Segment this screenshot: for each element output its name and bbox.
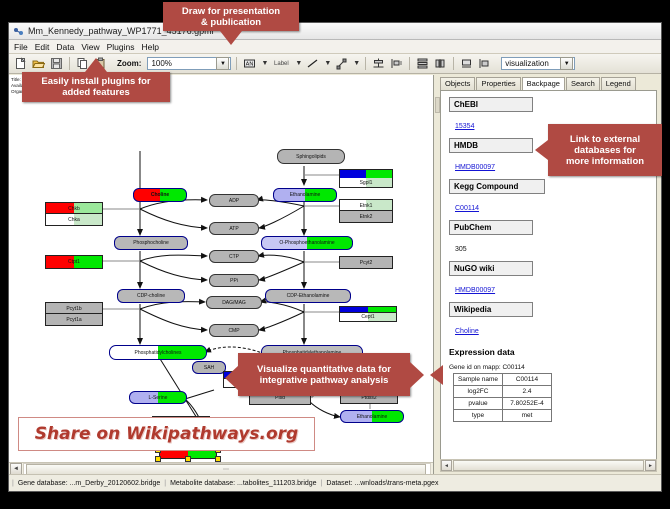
anchor-dropdown-icon[interactable]: ▼ [353, 60, 360, 67]
db-header-chebi: ChEBI [449, 97, 533, 112]
gene-id-on-mapp-label: Gene id on mapp: C00114 [449, 364, 650, 371]
callout-draw-text: Draw for presentation & publication [182, 6, 280, 28]
save-icon[interactable] [49, 56, 64, 71]
node-atp[interactable]: ATP [209, 222, 259, 235]
line-icon[interactable] [305, 56, 320, 71]
align-icon[interactable] [371, 56, 386, 71]
node-phosphocholine[interactable]: Phosphocholine [114, 236, 188, 250]
node-ethanolamine-right[interactable]: Ethanolamine [340, 410, 404, 423]
zoom-label: Zoom: [117, 59, 141, 68]
status-divider-2: | [321, 480, 323, 487]
callout-visualize-text: Visualize quantitative data for integrat… [257, 364, 391, 386]
distribute-icon[interactable] [389, 56, 404, 71]
db-header-kegg-compound: Kegg Compound [449, 179, 545, 194]
expression-table: Sample name C00114 log2FC 2.4 pvalue 7.8… [453, 373, 552, 422]
callout-links-text: Link to external databases for more info… [566, 134, 644, 167]
zoom-value: 100% [151, 59, 171, 68]
node-phosphatidylcholines[interactable]: Phosphatidylcholines [109, 345, 207, 360]
panel-splitter[interactable] [434, 91, 439, 460]
db-link-nugo-wiki[interactable]: HMDB00097 [455, 287, 495, 294]
callout-visualize-arrow-right-icon [410, 362, 424, 388]
visualization-chevron-down-icon[interactable]: ▼ [560, 57, 573, 70]
toolbar-separator-5 [453, 57, 454, 70]
visualization-combo[interactable]: visualization ▼ [501, 57, 575, 70]
gene-sgpl1[interactable]: Sgpl1 [339, 178, 393, 188]
gene-pcyt1a[interactable]: Pcyt1a [45, 313, 103, 326]
status-divider-0: | [12, 480, 14, 487]
menu-item-help[interactable]: Help [142, 42, 159, 52]
toolbar-separator-3 [365, 57, 366, 70]
datanode-icon[interactable]: AN [242, 56, 257, 71]
expr-val-log2fc: 2.4 [503, 386, 552, 398]
menu-item-file[interactable]: File [14, 42, 28, 52]
svg-text:AN: AN [246, 62, 254, 68]
line-dropdown-icon[interactable]: ▼ [324, 60, 331, 67]
scroll-track[interactable]: ⋯ [23, 463, 431, 475]
toolbar-separator-4 [409, 57, 410, 70]
node-ppi[interactable]: PPi [209, 274, 259, 287]
canvas-horizontal-scrollbar[interactable]: ◄ ⋯ [9, 462, 433, 474]
menu-item-view[interactable]: View [81, 42, 99, 52]
db-link-wikipedia[interactable]: Choline [455, 328, 479, 335]
panel-horizontal-scrollbar[interactable]: ◄ ► [440, 459, 657, 472]
tab-search[interactable]: Search [566, 77, 600, 90]
callout-plugins-text: Easily install plugins for added feature… [41, 76, 150, 98]
expression-data-heading: Expression data [449, 347, 650, 357]
expr-key-type: type [454, 410, 503, 422]
callout-draw-arrow-icon [220, 31, 242, 45]
node-ctp[interactable]: CTP [209, 250, 259, 263]
node-ethanolamine[interactable]: Ethanolamine [273, 188, 337, 202]
node-sah[interactable]: SAH [192, 361, 226, 374]
stack-icon[interactable] [415, 56, 430, 71]
callout-share-on-wikipathways: Share on Wikipathways.org [18, 417, 315, 451]
callout-links-arrow-icon [535, 140, 548, 160]
table-row: Sample name C00114 [454, 374, 552, 386]
tab-objects[interactable]: Objects [440, 77, 475, 90]
node-l-serine-left[interactable]: L-Serine [129, 391, 187, 404]
scroll-left-button[interactable]: ◄ [10, 463, 22, 475]
node-sphingolipids[interactable]: Sphingolipids [277, 149, 345, 164]
status-gene-database: Gene database: ...m_Derby_20120602.bridg… [18, 480, 160, 487]
pathvisio-icon [13, 26, 24, 37]
toolbar-separator-2 [236, 57, 237, 70]
callout-visualize-quantitative-data: Visualize quantitative data for integrat… [238, 353, 410, 396]
status-divider-1: | [164, 480, 166, 487]
node-o-phosphoethanolamine[interactable]: O-Phosphoethanolamine [261, 236, 353, 250]
node-adp[interactable]: ADP [209, 194, 259, 207]
open-folder-icon[interactable] [31, 56, 46, 71]
expr-key-sample-name: Sample name [454, 374, 503, 386]
side-panel-tabs: Objects Properties Backpage Search Legen… [440, 77, 657, 91]
table-row: pvalue 7.80252E-4 [454, 398, 552, 410]
expr-val-pvalue: 7.80252E-4 [503, 398, 552, 410]
table-row: log2FC 2.4 [454, 386, 552, 398]
expr-val-type: met [503, 410, 552, 422]
callout-plugins-arrow-icon [85, 58, 107, 72]
menu-item-data[interactable]: Data [56, 42, 74, 52]
db-header-pubchem: PubChem [449, 220, 533, 235]
toolbar-separator-1 [69, 57, 70, 70]
gene-cept1[interactable]: Cept1 [339, 312, 397, 322]
size-icon[interactable] [433, 56, 448, 71]
expr-key-pvalue: pvalue [454, 398, 503, 410]
label-icon[interactable]: Label [271, 56, 291, 71]
gene-etnk2[interactable]: Etnk2 [339, 210, 393, 223]
callout-link-to-external-databases: Link to external databases for more info… [548, 124, 662, 176]
menu-item-plugins[interactable]: Plugins [107, 42, 135, 52]
panel-scroll-thumb[interactable] [453, 460, 644, 471]
zoom-combo[interactable]: 100% ▼ [147, 57, 231, 70]
callout-easily-install-plugins: Easily install plugins for added feature… [22, 72, 170, 102]
menu-bar: File Edit Data View Plugins Help [9, 40, 661, 54]
status-dataset: Dataset: ...wnloads\trans-meta.pgex [326, 480, 438, 487]
status-metabolite-database: Metabolite database: ...tabolites_111203… [170, 480, 316, 487]
table-row: type met [454, 410, 552, 422]
canvas-panel: Title: Availa Organi [9, 75, 434, 474]
tab-legend[interactable]: Legend [601, 77, 636, 90]
group-icon[interactable] [459, 56, 474, 71]
node-choline-top[interactable]: Choline [133, 188, 187, 202]
visualization-value: visualization [505, 59, 549, 68]
node-cmp[interactable]: CMP [209, 324, 259, 337]
order-icon[interactable] [477, 56, 492, 71]
db-link-hmdb[interactable]: HMDB00097 [455, 164, 495, 171]
chevron-down-icon[interactable]: ▼ [216, 57, 229, 70]
db-header-nugo-wiki: NuGO wiki [449, 261, 533, 276]
new-file-icon[interactable] [13, 56, 28, 71]
anchor-icon[interactable] [334, 56, 349, 71]
callout-draw-for-presentation: Draw for presentation & publication [163, 2, 299, 31]
node-dag-mag[interactable]: DAG/MAG [206, 296, 262, 309]
callout-visualize-arrow-tail-icon [430, 365, 443, 385]
panel-scroll-left-button[interactable]: ◄ [441, 460, 452, 471]
screenshot-root: Mm_Kennedy_pathway_WP1771_45176.gpml Fil… [0, 0, 670, 509]
status-bar: | Gene database: ...m_Derby_20120602.bri… [9, 474, 661, 491]
tab-properties[interactable]: Properties [476, 77, 520, 90]
title-bar: Mm_Kennedy_pathway_WP1771_45176.gpml [9, 23, 661, 40]
menu-item-edit[interactable]: Edit [35, 42, 50, 52]
db-link-chebi[interactable]: 15354 [455, 123, 474, 130]
db-header-hmdb: HMDB [449, 138, 533, 153]
tab-backpage[interactable]: Backpage [522, 77, 565, 91]
gene-ctpt1[interactable]: Ctpt1 [45, 255, 103, 269]
db-header-wikipedia: Wikipedia [449, 302, 533, 317]
gene-pcyt2[interactable]: Pcyt2 [339, 256, 393, 269]
label-dropdown-icon[interactable]: ▼ [295, 60, 302, 67]
gene-chka[interactable]: Chka [45, 213, 103, 226]
datanode-dropdown-icon[interactable]: ▼ [261, 60, 268, 67]
callout-visualize-arrow-left-icon [225, 365, 239, 391]
pathway-canvas[interactable]: Title: Availa Organi [9, 75, 433, 462]
expr-key-log2fc: log2FC [454, 386, 503, 398]
share-text: Share on Wikipathways.org [35, 424, 298, 444]
node-cdp-ethanolamine[interactable]: CDP-Ethanolamine [265, 289, 351, 303]
node-cdp-choline[interactable]: CDP-choline [117, 289, 185, 303]
db-link-kegg-compound[interactable]: C00114 [455, 205, 479, 212]
expr-val-sample-name: C00114 [503, 374, 552, 386]
db-value-pubchem: 305 [455, 246, 467, 253]
panel-scroll-right-button[interactable]: ► [645, 460, 656, 471]
